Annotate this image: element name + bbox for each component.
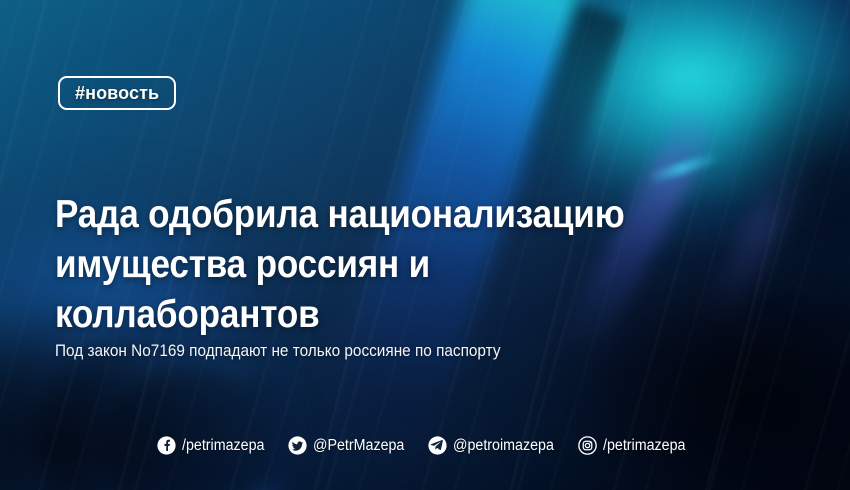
social-link-telegram[interactable]: @petroimazepa [428,436,563,455]
news-card: #новость Рада одобрила национализацию им… [0,0,850,490]
twitter-icon [288,436,307,455]
social-link-twitter[interactable]: @PetrMazepa [288,436,412,455]
social-link-instagram[interactable]: /petrimazepa [578,436,693,455]
headline: Рада одобрила национализацию имущества р… [55,190,676,340]
telegram-icon [428,436,447,455]
social-links: /petrimazepa @PetrMazepa @petroimazepa [0,436,850,455]
instagram-icon [578,436,597,455]
social-link-facebook[interactable]: /petrimazepa [157,436,272,455]
social-handle: @petroimazepa [453,437,554,455]
social-handle: /petrimazepa [182,437,264,455]
facebook-icon [157,436,176,455]
card-content: #новость Рада одобрила национализацию им… [0,0,850,490]
news-badge[interactable]: #новость [58,76,176,110]
social-handle: /petrimazepa [603,437,685,455]
subtitle: Под закон No7169 подпадают не только рос… [55,340,706,362]
social-handle: @PetrMazepa [313,437,404,455]
